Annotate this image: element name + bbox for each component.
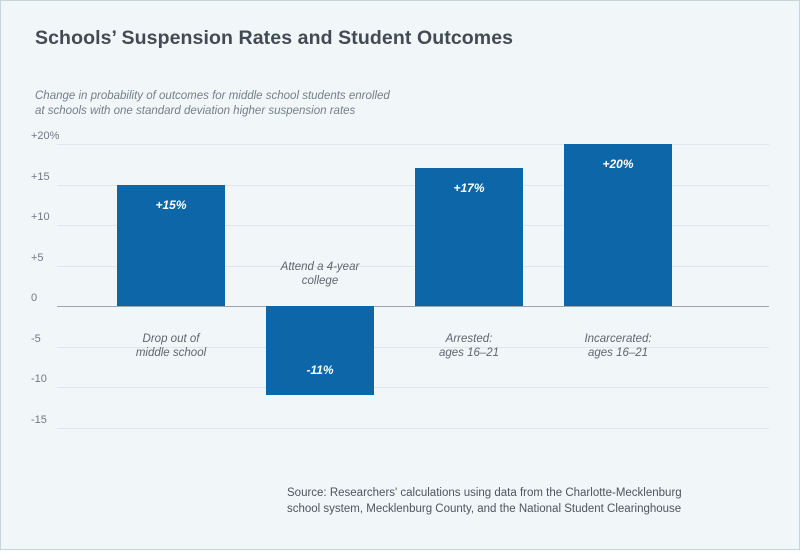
y-axis-tick-label: +20%: [31, 130, 75, 142]
bar-value-label: +20%: [564, 157, 672, 171]
y-axis-tick-label: +15: [31, 171, 75, 183]
category-label: Attend a 4-year college: [242, 260, 398, 288]
bar-value-label: +17%: [415, 181, 523, 195]
source-note: Source: Researchers' calculations using …: [287, 485, 767, 517]
y-axis-tick-label: 0: [31, 292, 75, 304]
bar-value-label: +15%: [117, 198, 225, 212]
zero-axis-line: [57, 306, 769, 307]
chart-page: Schools’ Suspension Rates and Student Ou…: [0, 0, 800, 550]
category-label: Arrested: ages 16–21: [391, 332, 547, 360]
category-label: Incarcerated: ages 16–21: [540, 332, 696, 360]
bar-value-label: -11%: [266, 363, 374, 377]
category-label: Drop out of middle school: [93, 332, 249, 360]
bar-chart-plot-area: +20%+15+10+50-5-10-15+15%Drop out of mid…: [1, 1, 800, 551]
y-axis-tick-label: +5: [31, 252, 75, 264]
bar[interactable]: [266, 306, 374, 395]
y-axis-tick-label: -10: [31, 373, 75, 385]
y-axis-tick-label: -5: [31, 333, 75, 345]
y-axis-tick-label: +10: [31, 211, 75, 223]
gridline: [57, 428, 769, 429]
gridline: [57, 387, 769, 388]
y-axis-tick-label: -15: [31, 414, 75, 426]
